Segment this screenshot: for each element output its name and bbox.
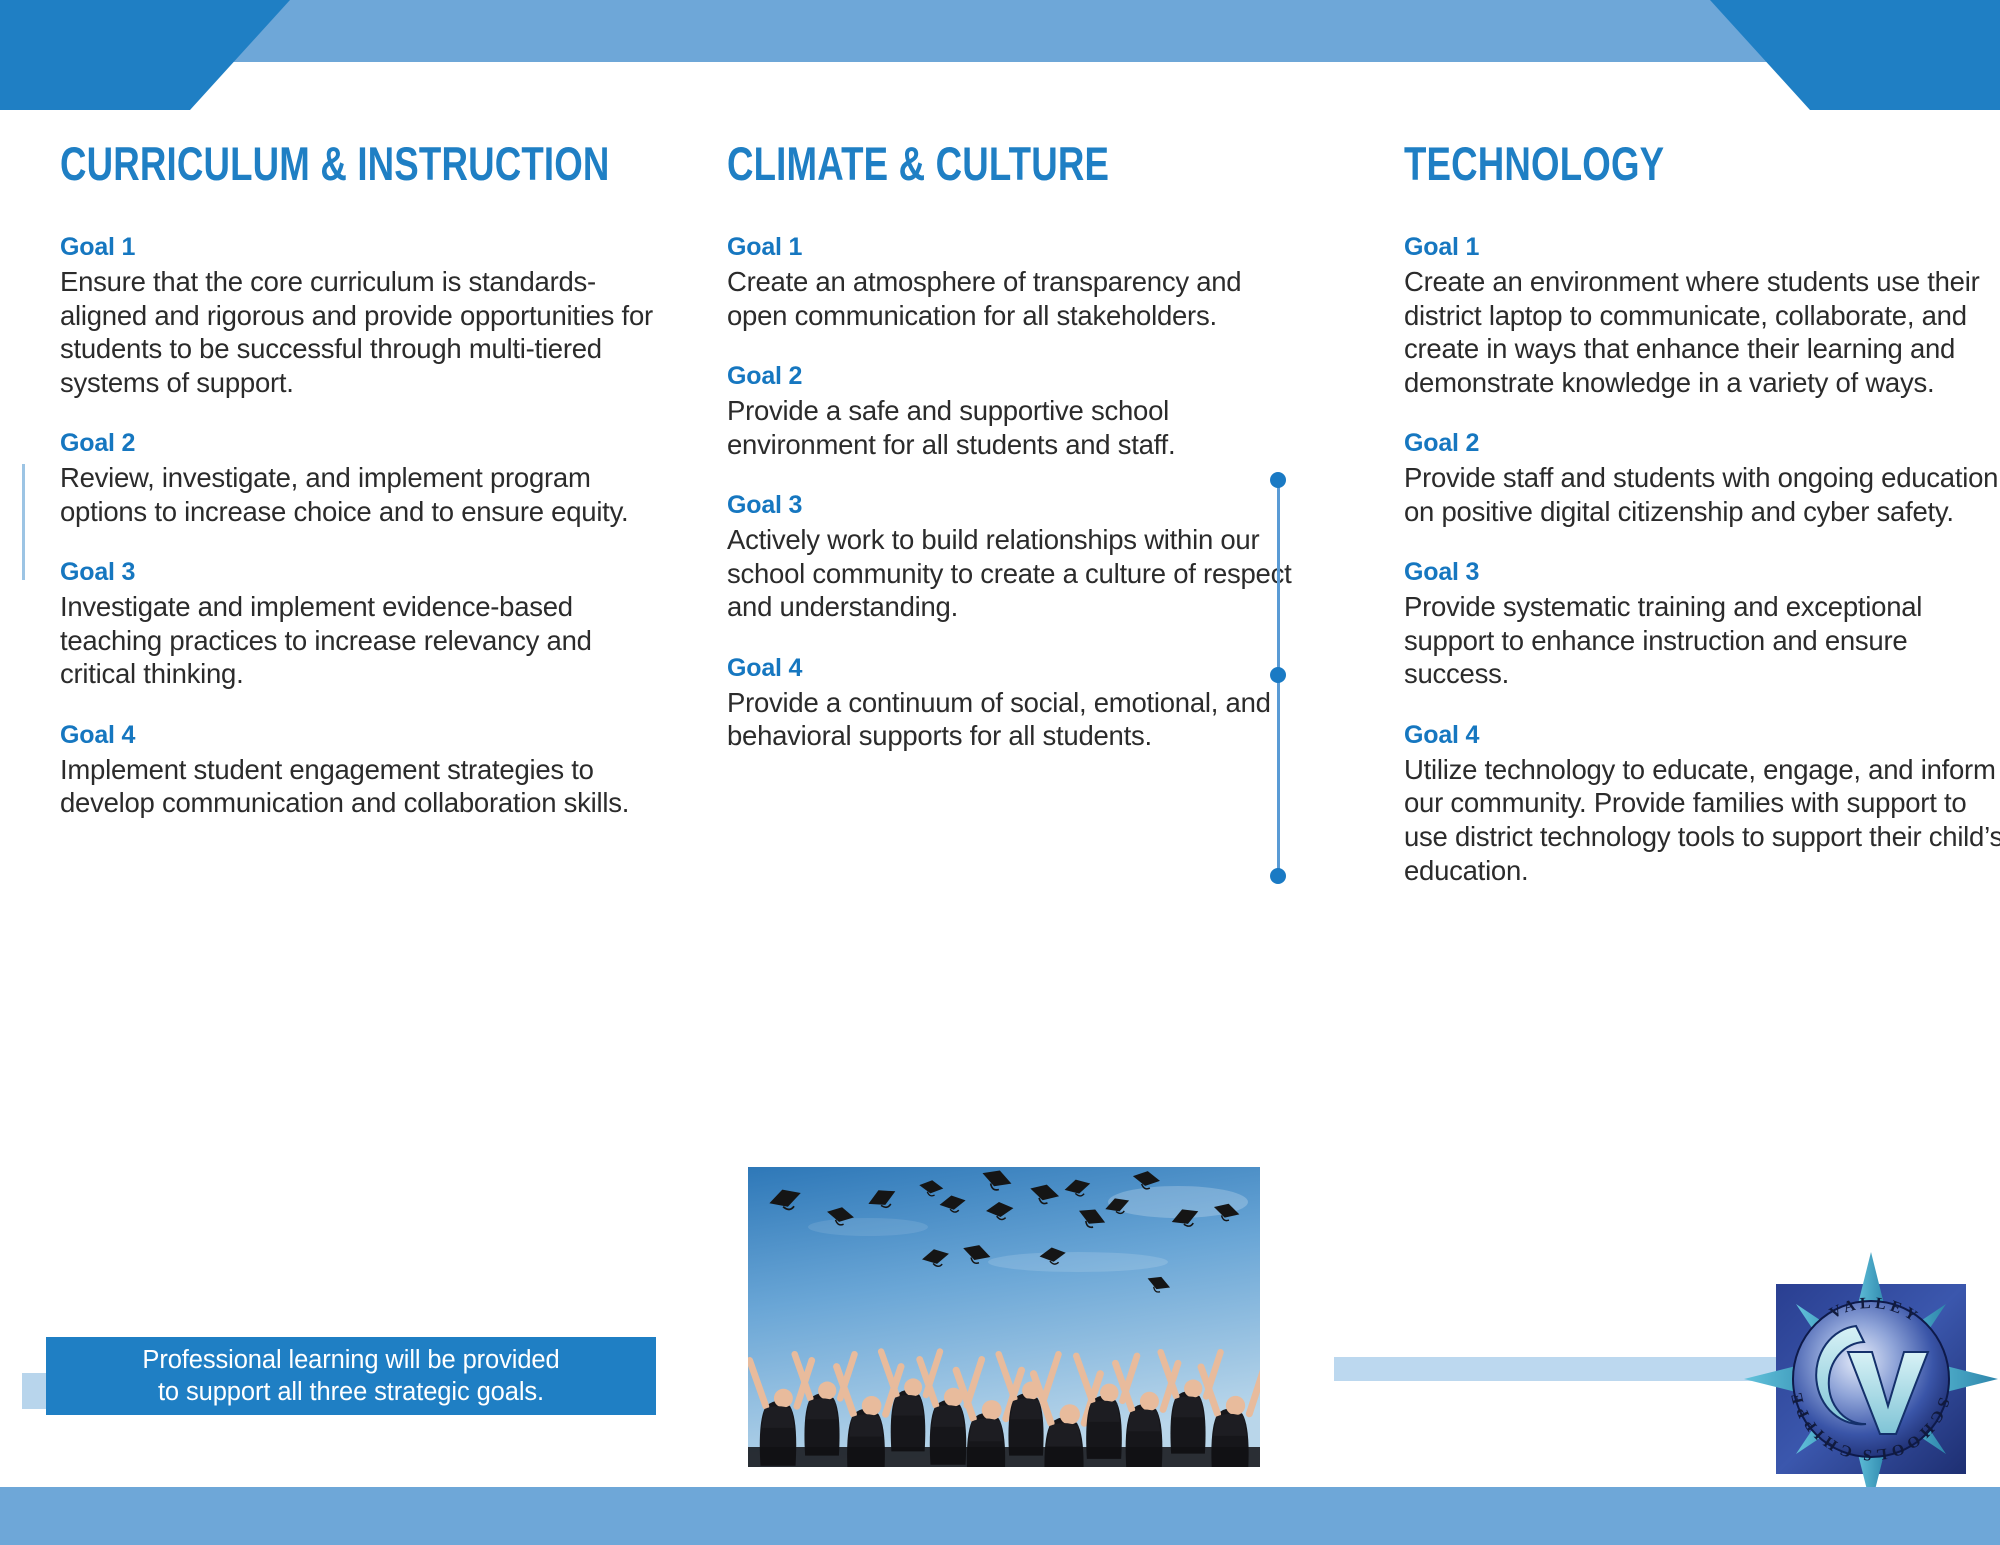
goal-text: Create an atmosphere of transparency and… (727, 265, 1302, 332)
goal-block: Goal 2 Provide a safe and supportive sch… (727, 360, 1302, 461)
goal-label: Goal 4 (1404, 719, 2000, 751)
goal-block: Goal 4 Utilize technology to educate, en… (1404, 719, 2000, 887)
goal-label: Goal 1 (60, 231, 660, 263)
timeline-dot-icon (1270, 667, 1286, 683)
goal-text: Create an environment where students use… (1404, 265, 2000, 399)
goal-label: Goal 3 (60, 556, 660, 588)
banner-light-trapezoid (170, 0, 1830, 62)
column-title: CURRICULUM & INSTRUCTION (60, 140, 528, 187)
timeline-dot-icon (1270, 472, 1286, 488)
goal-block: Goal 3 Investigate and implement evidenc… (60, 556, 660, 691)
goal-block: Goal 4 Provide a continuum of social, em… (727, 652, 1302, 753)
goal-text: Utilize technology to educate, engage, a… (1404, 753, 2000, 887)
bottom-banner (0, 1487, 2000, 1545)
accent-bar-right (1334, 1357, 1800, 1381)
goal-block: Goal 1 Ensure that the core curriculum i… (60, 231, 660, 399)
goal-text: Provide staff and students with ongoing … (1404, 461, 2000, 528)
goal-block: Goal 2 Provide staff and students with o… (1404, 427, 2000, 528)
column-curriculum-instruction: CURRICULUM & INSTRUCTION Goal 1 Ensure t… (60, 140, 660, 848)
goal-text: Provide a safe and supportive school env… (727, 394, 1302, 461)
column-technology: TECHNOLOGY Goal 1 Create an environment … (1404, 140, 2000, 915)
top-banner (0, 0, 2000, 110)
goal-label: Goal 2 (727, 360, 1302, 392)
goal-label: Goal 3 (1404, 556, 2000, 588)
graduation-photo (748, 1167, 1260, 1467)
goal-text: Provide a continuum of social, emotional… (727, 686, 1302, 753)
chippewa-valley-schools-logo: VALLEY SCHOOLS CHIPPEWA (1740, 1248, 2000, 1510)
goal-text: Review, investigate, and implement progr… (60, 461, 660, 528)
timeline-dot-icon (1270, 868, 1286, 884)
goal-text: Actively work to build relationships wit… (727, 523, 1302, 624)
goal-label: Goal 2 (1404, 427, 2000, 459)
goal-label: Goal 4 (60, 719, 660, 751)
goal-text: Ensure that the core curriculum is stand… (60, 265, 660, 399)
goal-text: Implement student engagement strategies … (60, 753, 660, 820)
goal-label: Goal 3 (727, 489, 1302, 521)
column-side-rule (22, 464, 25, 580)
goal-text: Provide systematic training and exceptio… (1404, 590, 2000, 691)
goal-block: Goal 4 Implement student engagement stra… (60, 719, 660, 820)
goal-label: Goal 2 (60, 427, 660, 459)
goal-label: Goal 1 (727, 231, 1302, 263)
goal-label: Goal 4 (727, 652, 1302, 684)
column-climate-culture: CLIMATE & CULTURE Goal 1 Create an atmos… (727, 140, 1302, 781)
goal-text: Investigate and implement evidence-based… (60, 590, 660, 691)
goal-block: Goal 3 Actively work to build relationsh… (727, 489, 1302, 624)
column-title: TECHNOLOGY (1404, 140, 1872, 187)
column-title: CLIMATE & CULTURE (727, 140, 1176, 187)
goal-label: Goal 1 (1404, 231, 2000, 263)
goal-block: Goal 2 Review, investigate, and implemen… (60, 427, 660, 528)
page-root: CURRICULUM & INSTRUCTION Goal 1 Ensure t… (0, 0, 2000, 1545)
timeline-connector (1270, 472, 1286, 884)
goal-block: Goal 3 Provide systematic training and e… (1404, 556, 2000, 691)
callout-text: Professional learning will be provided t… (142, 1344, 559, 1408)
goal-block: Goal 1 Create an atmosphere of transpare… (727, 231, 1302, 332)
goal-block: Goal 1 Create an environment where stude… (1404, 231, 2000, 399)
professional-learning-callout: Professional learning will be provided t… (46, 1337, 656, 1415)
